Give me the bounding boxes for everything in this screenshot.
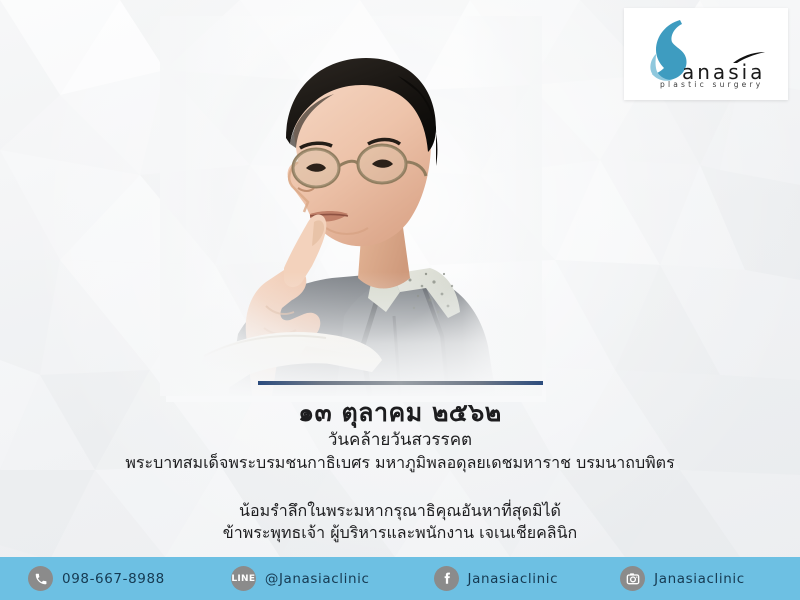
line-id: @Janasiaclinic	[265, 571, 370, 587]
memorial-date: ๑๓ ตุลาคม ๒๕๖๒	[0, 398, 800, 428]
phone-number: 098-667-8988	[62, 571, 165, 587]
tribute-block: น้อมรำลึกในพระมหากรุณาธิคุณอันหาที่สุดมิ…	[0, 500, 800, 544]
memorial-text-block: ๑๓ ตุลาคม ๒๕๖๒ วันคล้ายวันสวรรคต พระบาทส…	[0, 398, 800, 544]
memorial-occasion: วันคล้ายวันสวรรคต	[0, 429, 800, 451]
contact-line[interactable]: LINE @Janasiaclinic	[231, 566, 370, 591]
contact-facebook[interactable]: Janasiaclinic	[434, 566, 559, 591]
royal-title: พระบาทสมเด็จพระบรมชนกาธิเบศร มหาภูมิพลอด…	[0, 452, 800, 474]
line-icon: LINE	[231, 566, 256, 591]
brand-logo-card: anasia plastic surgery	[624, 8, 788, 100]
phone-icon	[28, 566, 53, 591]
king-portrait	[186, 16, 516, 396]
facebook-name: Janasiaclinic	[468, 571, 559, 587]
contact-footer-bar: 098-667-8988 LINE @Janasiaclinic Janasia…	[0, 557, 800, 600]
tribute-line-1: น้อมรำลึกในพระมหากรุณาธิคุณอันหาที่สุดมิ…	[0, 500, 800, 522]
logo-tagline: plastic surgery	[660, 80, 763, 89]
contact-instagram[interactable]: Janasiaclinic	[620, 566, 745, 591]
logo-swoosh-icon	[732, 52, 766, 64]
poster-canvas: anasia plastic surgery ๑๓ ตุลาคม ๒๕๖๒ วั…	[0, 0, 800, 600]
instagram-icon	[620, 566, 645, 591]
facebook-icon	[434, 566, 459, 591]
contact-phone[interactable]: 098-667-8988	[28, 566, 165, 591]
tribute-line-2: ข้าพระพุทธเจ้า ผู้บริหารและพนักงาน เจเนเ…	[0, 522, 800, 544]
section-divider	[258, 381, 543, 385]
instagram-name: Janasiaclinic	[654, 571, 745, 587]
